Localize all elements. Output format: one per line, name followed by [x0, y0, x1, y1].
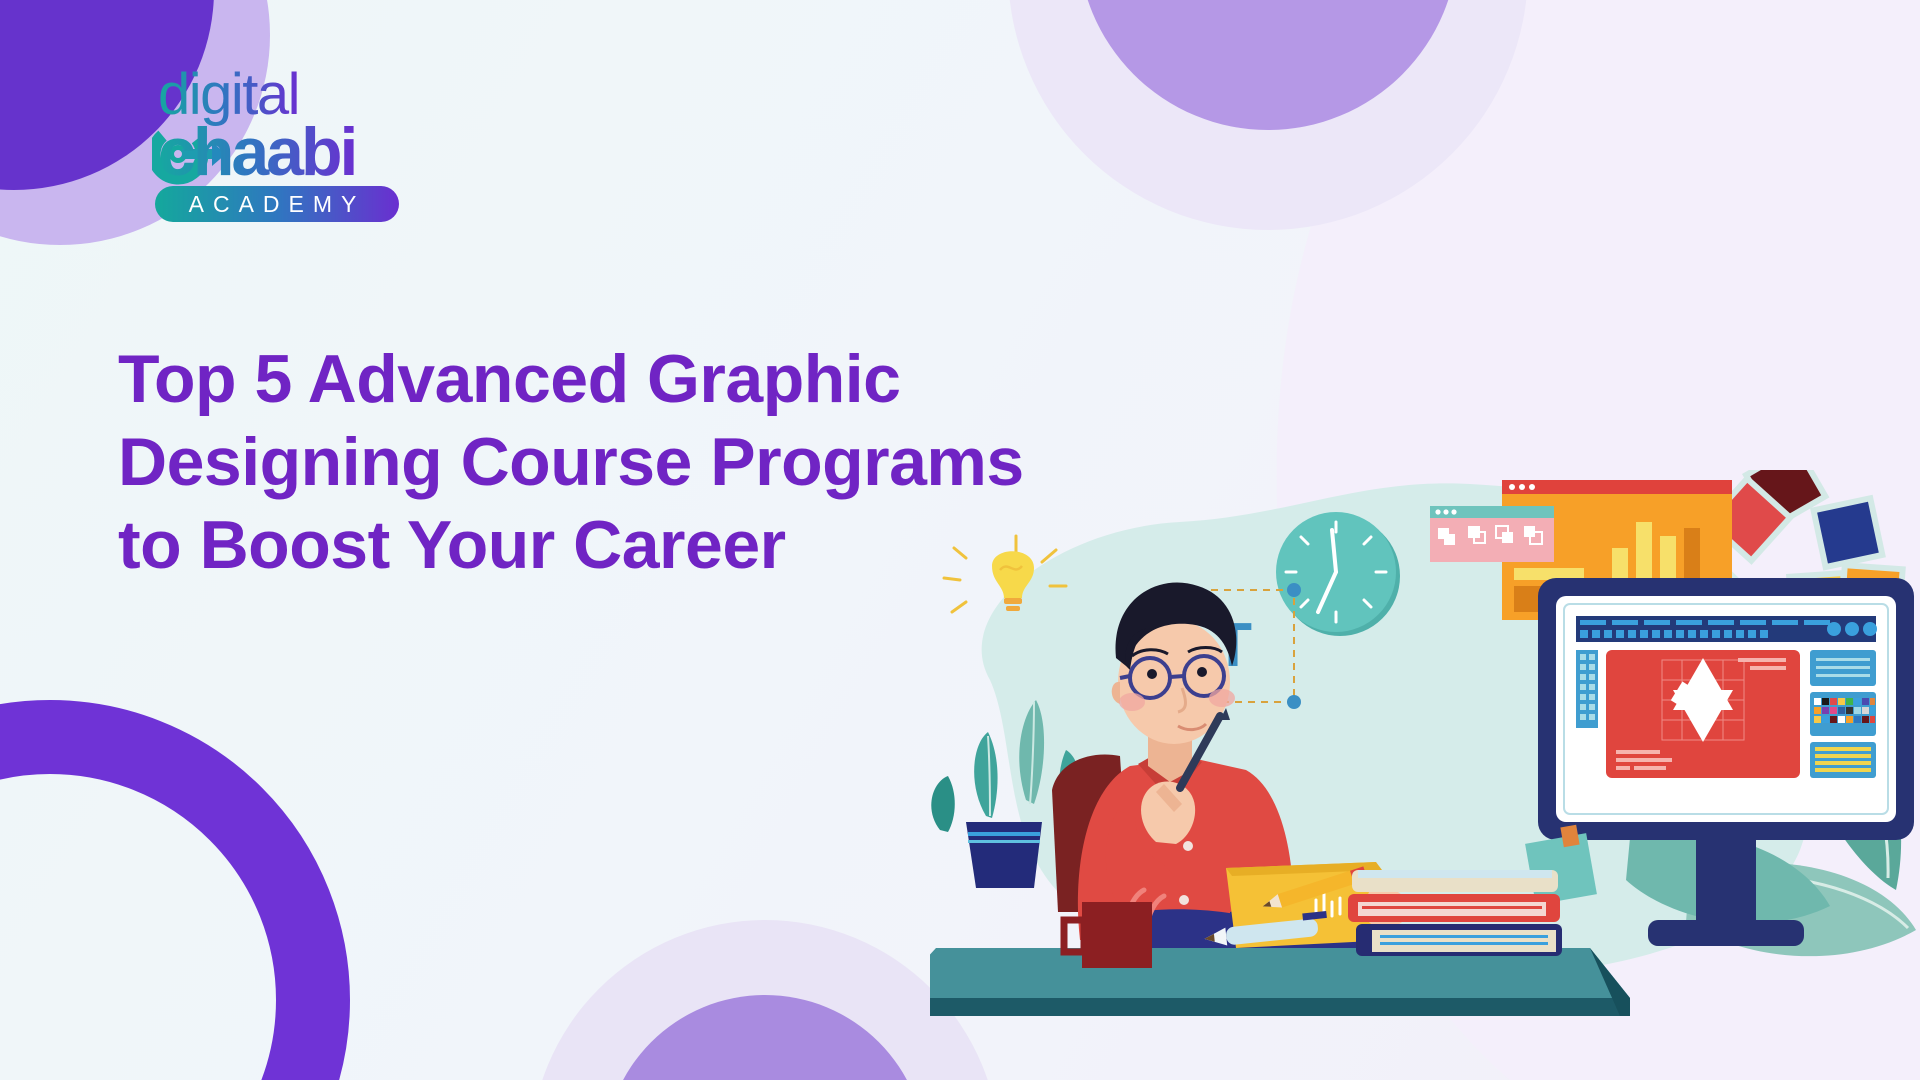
headline-line-1: Top 5 Advanced Graphic — [118, 338, 1358, 421]
floating-window-layers — [1430, 506, 1554, 562]
logo-word-chaabi: chaabi — [158, 114, 355, 190]
desk — [930, 948, 1630, 1016]
logo-academy-badge: ACADEMY — [155, 186, 399, 222]
brand-logo[interactable]: digital chaabi ACADEMY — [152, 62, 452, 232]
logo-academy-label: ACADEMY — [189, 191, 366, 217]
monitor-swatch-grid — [1814, 698, 1875, 723]
hero-illustration: T — [930, 470, 1920, 1080]
decorative-ring-bottom-left — [0, 700, 350, 1080]
book-stack — [1348, 870, 1562, 956]
poster-canvas: digital chaabi ACADEMY Top 5 Advanced Gr… — [0, 0, 1920, 1080]
